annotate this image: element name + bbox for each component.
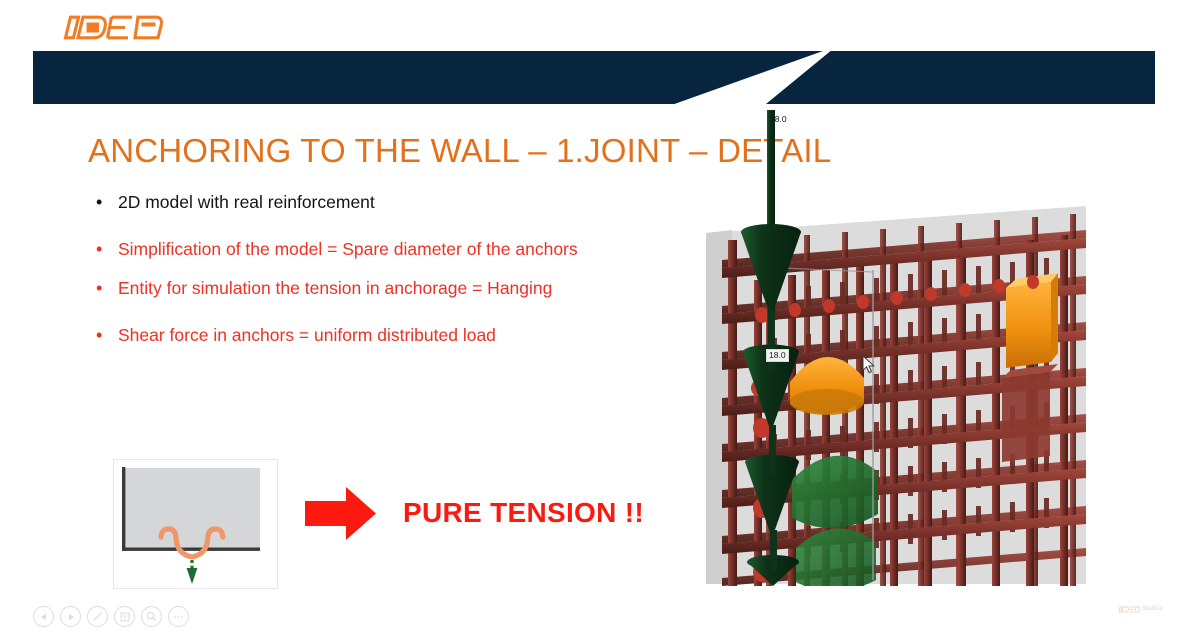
list-item: • Shear force in anchors = uniform distr…: [96, 323, 696, 348]
bullet-marker: •: [96, 323, 118, 348]
presentation-toolbar[interactable]: [33, 606, 189, 627]
bullet-marker: •: [96, 190, 118, 215]
list-item: • 2D model with real reinforcement: [96, 190, 696, 215]
load-label-top: 18.0: [768, 114, 789, 125]
idea-statica-logo: StatiCa ®: [62, 8, 282, 46]
header-band: [33, 51, 1155, 104]
bullet-text: 2D model with real reinforcement: [118, 190, 696, 215]
bullet-text: Simplification of the model = Spare diam…: [118, 237, 696, 262]
bullet-text: Shear force in anchors = uniform distrib…: [118, 323, 696, 348]
idea-statica-watermark: StatiCa: [1118, 606, 1163, 613]
hanging-reinforcement-sketch: [113, 459, 278, 589]
load-label-middle: 18.0: [766, 349, 789, 362]
bullet-text: Entity for simulation the tension in anc…: [118, 276, 696, 301]
bullet-list: • 2D model with real reinforcement • Sim…: [96, 190, 696, 348]
right-arrow-icon: [305, 486, 377, 542]
bullet-marker: •: [96, 276, 118, 301]
magnifier-icon[interactable]: [141, 606, 162, 627]
registered-mark: ®: [274, 10, 283, 24]
list-item: • Simplification of the model = Spare di…: [96, 237, 696, 262]
header-band-right: [766, 51, 1155, 104]
presentation-slide: StatiCa ® ANCHORING TO THE WALL – 1.JOIN…: [0, 0, 1200, 630]
header-band-left: [33, 51, 823, 104]
logo-wordmark: StatiCa: [175, 13, 264, 40]
3d-reinforcement-model[interactable]: [706, 110, 1086, 586]
mouse-pointer: [862, 355, 876, 374]
previous-slide-button[interactable]: [33, 606, 54, 627]
watermark-word: StatiCa: [1142, 606, 1163, 613]
next-slide-button[interactable]: [60, 606, 81, 627]
list-item: • Entity for simulation the tension in a…: [96, 276, 696, 301]
bullet-marker: •: [96, 237, 118, 262]
watermark-mark-icon: [1118, 606, 1140, 613]
idea-logo-mark: [62, 14, 166, 41]
ellipsis-icon[interactable]: [168, 606, 189, 627]
grid-icon[interactable]: [114, 606, 135, 627]
pure-tension-callout: PURE TENSION !!: [403, 497, 644, 529]
pen-icon[interactable]: [87, 606, 108, 627]
